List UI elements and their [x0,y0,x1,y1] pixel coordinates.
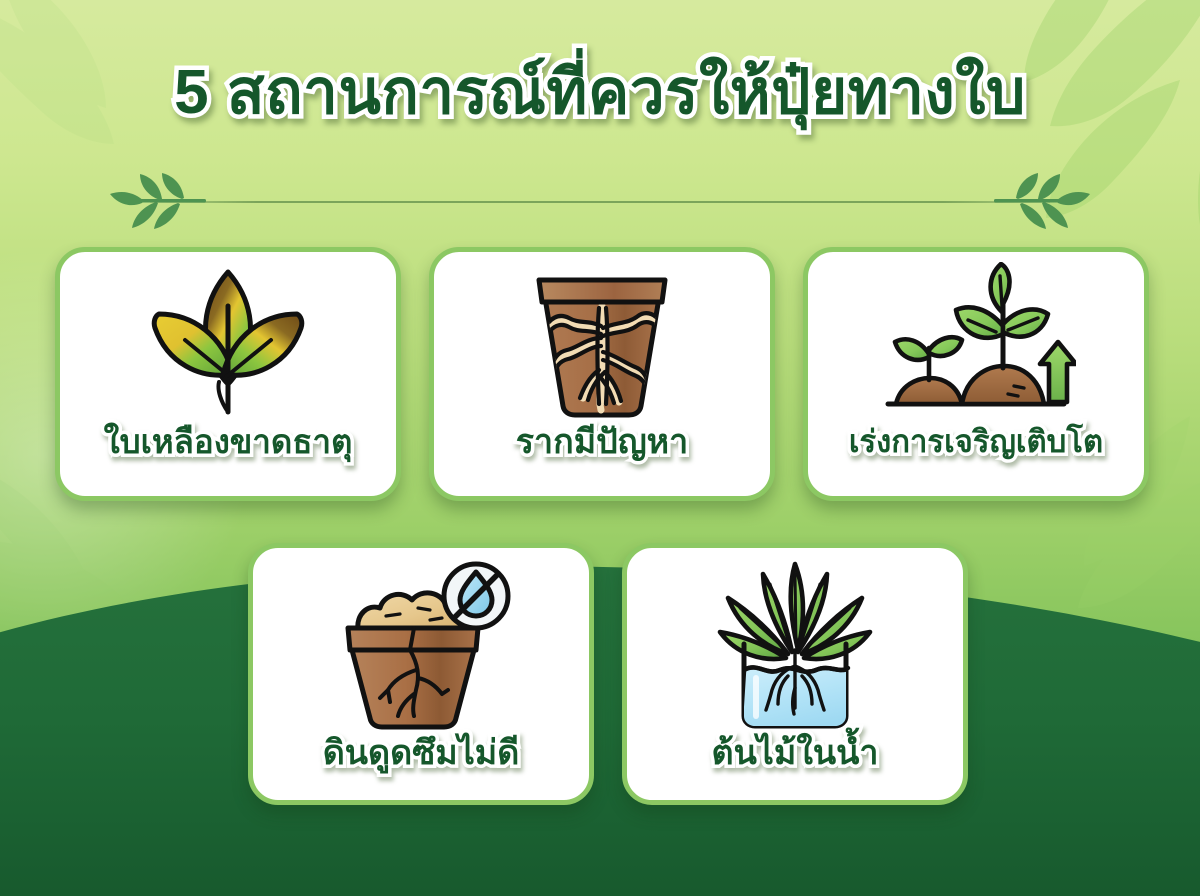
card-water-plant[interactable]: ต้นไม้ในน้ำ [622,543,968,805]
card-label: เร่งการเจริญเติบโต [849,423,1103,496]
divider [0,172,1200,232]
leaf-sprig-left-icon [108,172,208,230]
cracked-dry-soil-no-water-icon [326,558,516,733]
card-poor-soil-absorption[interactable]: ดินดูดซึมไม่ดี [248,543,594,805]
page-title: 5 สถานการณ์ที่ควรให้ปุ๋ยทางใบ [174,58,1026,127]
card-boost-growth[interactable]: เร่งการเจริญเติบโต [803,247,1149,501]
card-label: ดินดูดซึมไม่ดี [323,733,520,810]
header: 5 สถานการณ์ที่ควรให้ปุ๋ยทางใบ [0,58,1200,127]
card-icon-wrap [808,252,1144,423]
bottom-hill-shape [0,526,1200,896]
card-icon-wrap [627,548,963,733]
leaf-sprig-right-icon [992,172,1092,230]
card-label: ต้นไม้ในน้ำ [711,733,878,810]
pot-with-roots-icon [517,262,687,422]
hydroponic-plant-in-water-icon [700,558,890,733]
card-icon-wrap [434,252,770,422]
infographic-stage: 5 สถานการณ์ที่ควรให้ปุ๋ยทางใบ [0,0,1200,896]
card-label: ใบเหลืองขาดธาตุ [104,422,353,498]
card-label: รากมีปัญหา [516,422,688,499]
growing-seedlings-up-arrow-icon [876,262,1076,422]
divider-rule [150,201,1050,203]
card-yellowing-leaves[interactable]: ใบเหลืองขาดธาตุ [55,247,401,501]
card-icon-wrap [60,252,396,422]
card-root-problem[interactable]: รากมีปัญหา [429,247,775,501]
yellowing-leaves-icon [133,262,323,422]
card-icon-wrap [253,548,589,733]
